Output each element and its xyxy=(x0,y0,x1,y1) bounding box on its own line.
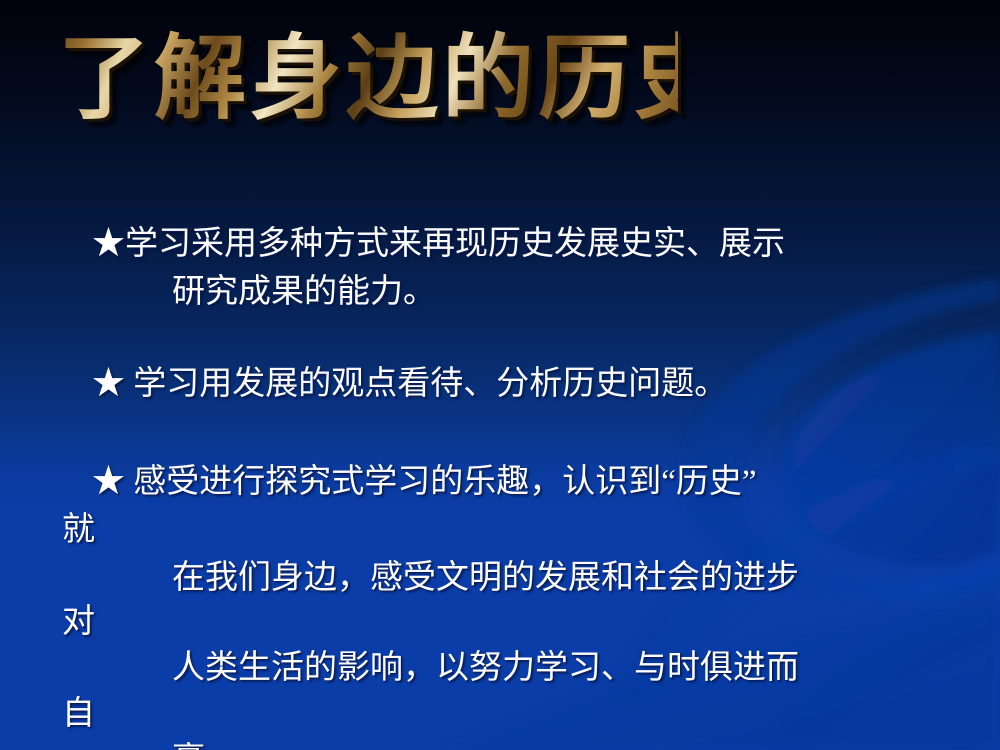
bullet-3-line-3: 人类生活的影响，以努力学习、与时俱进而 xyxy=(172,640,799,688)
slide-title-wordart: 了解身边的历史 了解身边的历史 xyxy=(58,14,678,164)
bullet-3-overflow-char-3: 自 xyxy=(62,686,95,734)
presentation-slide: 了解身边的历史 了解身边的历史 ★学习采用多种方式来再现历史发展史实、展示 研究… xyxy=(0,0,1000,750)
bullet-3-overflow-char-1: 就 xyxy=(62,502,95,550)
bullet-3-overflow-char-4: 豪 xyxy=(172,732,205,750)
bullet-1-line-2: 研究成果的能力。 xyxy=(172,264,436,312)
bullet-2-line-1: ★ 学习用发展的观点看待、分析历史问题。 xyxy=(92,356,727,404)
page-title: 了解身边的历史 xyxy=(58,14,678,144)
bullet-1-line-1: ★学习采用多种方式来再现历史发展史实、展示 xyxy=(92,216,785,264)
bullet-3-overflow-char-2: 对 xyxy=(62,594,95,642)
bullet-3-line-1: ★ 感受进行探究式学习的乐趣，认识到“历史” xyxy=(92,454,757,502)
bullet-3-line-2: 在我们身边，感受文明的发展和社会的进步 xyxy=(172,550,799,598)
